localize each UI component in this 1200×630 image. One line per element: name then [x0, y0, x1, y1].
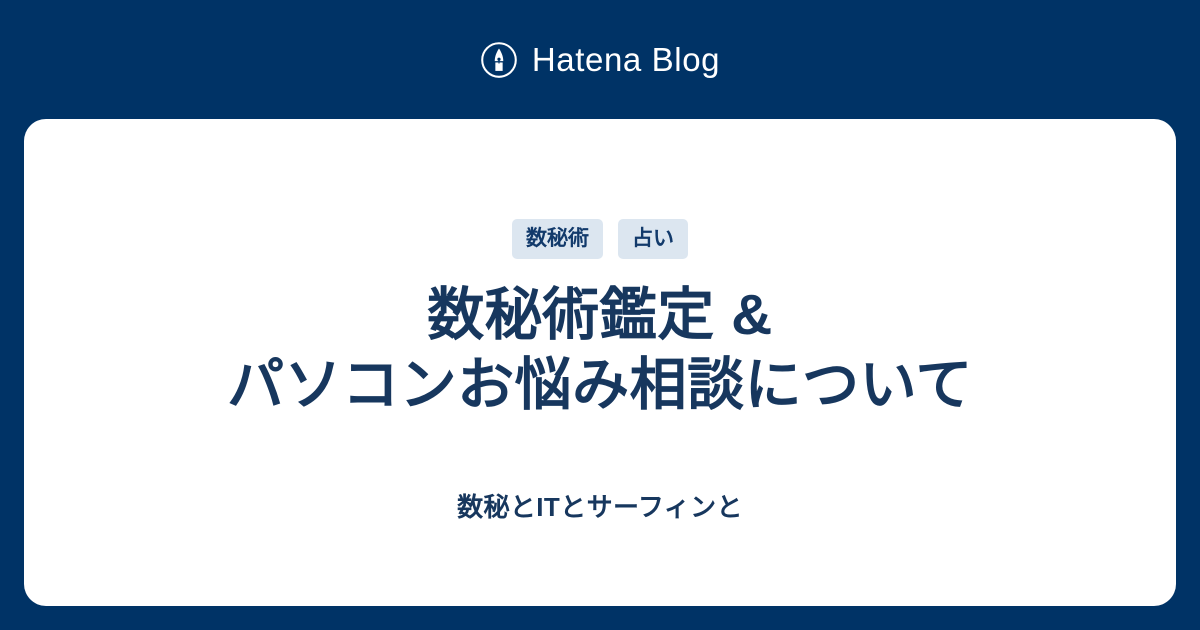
tag-chip-fortune-telling[interactable]: 占い	[618, 219, 688, 259]
hatena-blog-logo	[480, 41, 518, 79]
entry-card: 数秘術 占い 数秘術鑑定 & パソコンお悩み相談について 数秘とITとサーフィン…	[24, 119, 1176, 606]
brand-name-label: Hatena Blog	[532, 43, 720, 76]
entry-title-line-1: 数秘術鑑定 &	[227, 281, 973, 351]
tag-chip-numerology[interactable]: 数秘術	[512, 219, 603, 259]
entry-title-line-2: パソコンお悩み相談について	[227, 351, 973, 421]
entry-title: 数秘術鑑定 & パソコンお悩み相談について	[187, 281, 1013, 420]
fountain-pen-nib-in-circle-icon	[480, 41, 518, 79]
entry-card-content: 数秘術 占い 数秘術鑑定 & パソコンお悩み相談について 数秘とITとサーフィン…	[24, 119, 1176, 523]
brand-header: Hatena Blog	[0, 0, 1200, 119]
blog-subtitle: 数秘とITとサーフィンと	[457, 492, 743, 523]
ogp-card-canvas: Hatena Blog 数秘術 占い 数秘術鑑定 & パソコンお悩み相談について…	[0, 0, 1200, 630]
tag-list: 数秘術 占い	[512, 219, 688, 259]
